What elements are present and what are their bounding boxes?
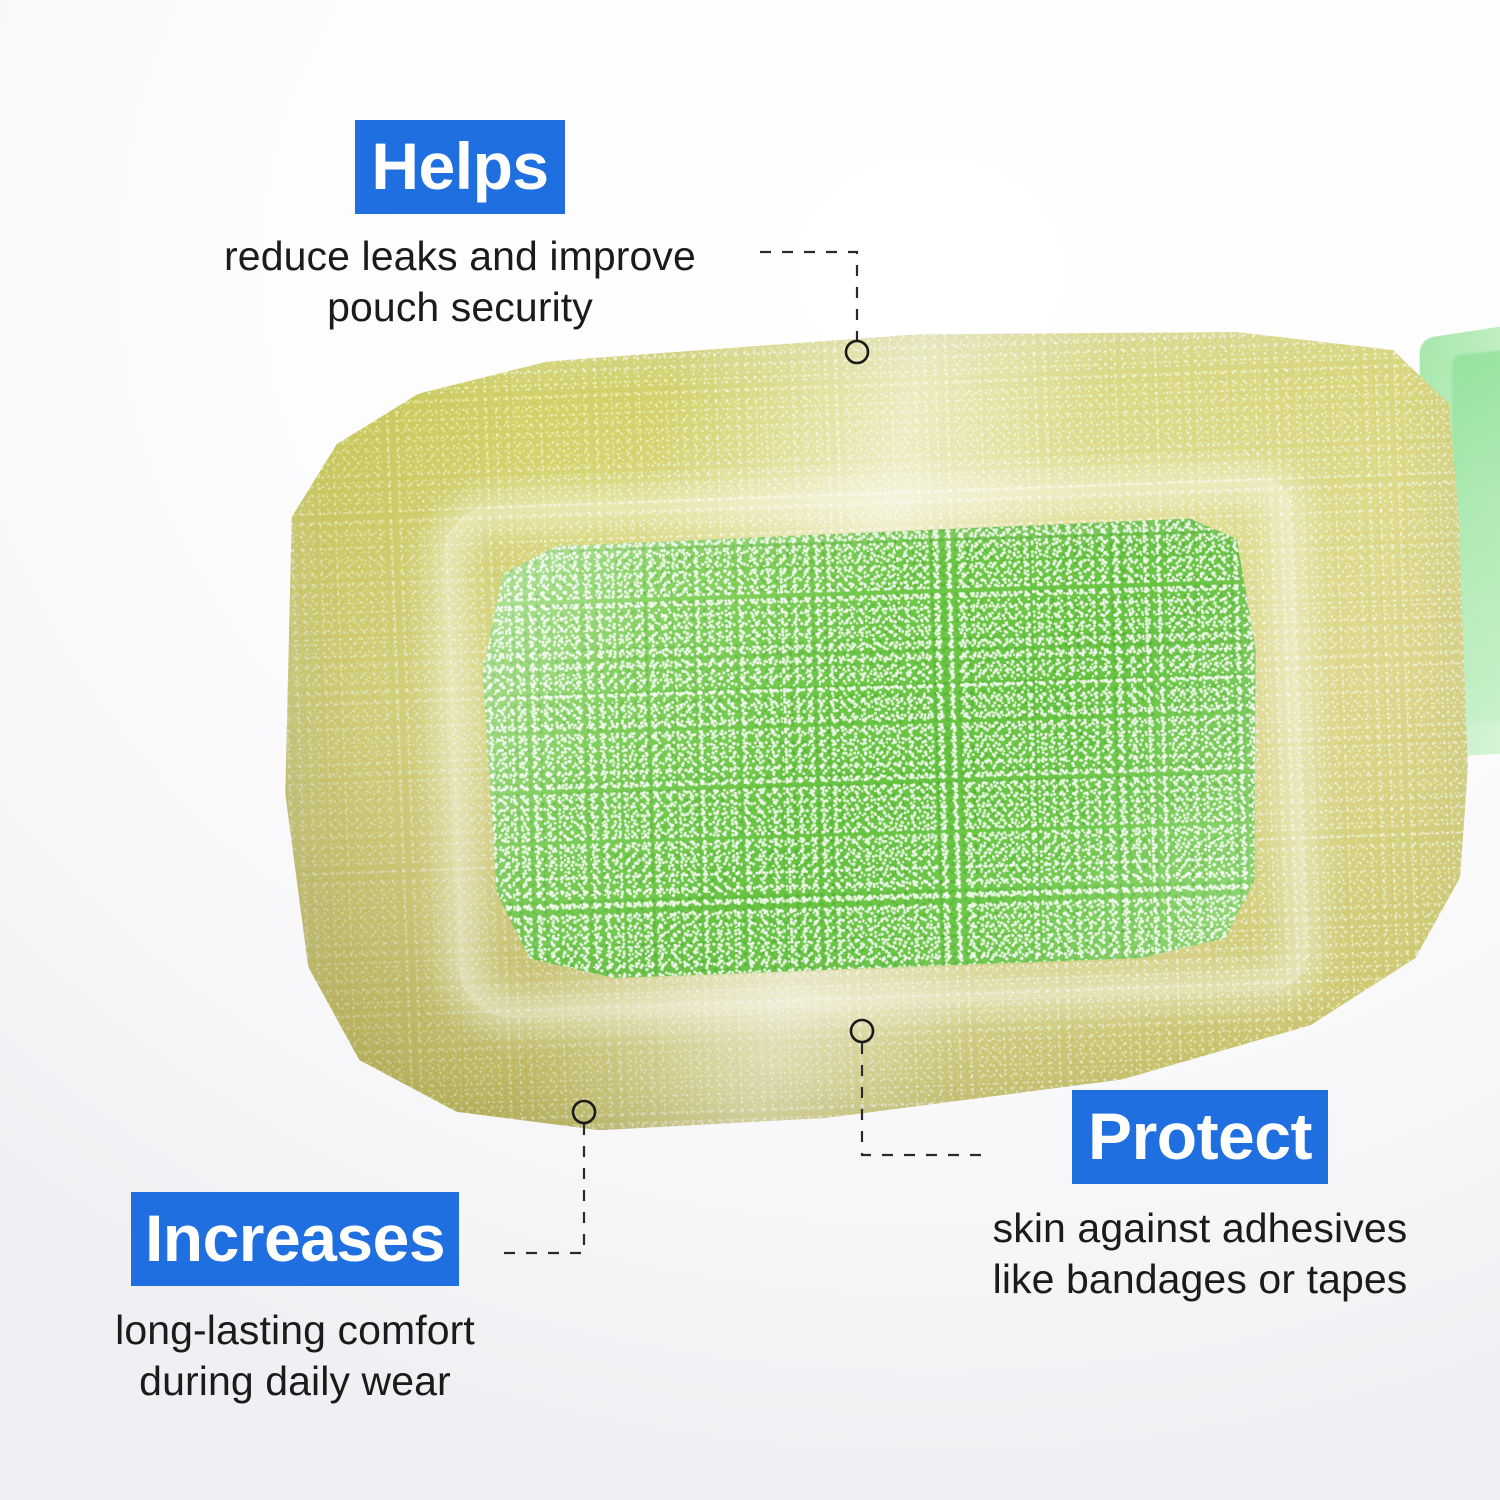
callout-protect-tag: Protect xyxy=(1072,1090,1328,1184)
foam-inner-sheen xyxy=(479,516,1265,981)
foam-inner-panel xyxy=(479,516,1265,981)
callout-protect: Protect skin against adhesives like band… xyxy=(960,1090,1440,1305)
product-feature-graphic: Helps reduce leaks and improve pouch sec… xyxy=(0,0,1500,1500)
callout-protect-description: skin against adhesives like bandages or … xyxy=(960,1203,1440,1305)
foam-barrier-ring xyxy=(262,308,1480,1141)
callout-helps: Helps reduce leaks and improve pouch sec… xyxy=(150,120,770,333)
callout-helps-tag: Helps xyxy=(355,120,564,214)
callout-increases-description: long-lasting comfort during daily wear xyxy=(80,1305,510,1407)
callout-increases: Increases long-lasting comfort during da… xyxy=(80,1192,510,1407)
callout-increases-tag: Increases xyxy=(131,1192,459,1286)
callout-helps-description: reduce leaks and improve pouch security xyxy=(150,231,770,333)
